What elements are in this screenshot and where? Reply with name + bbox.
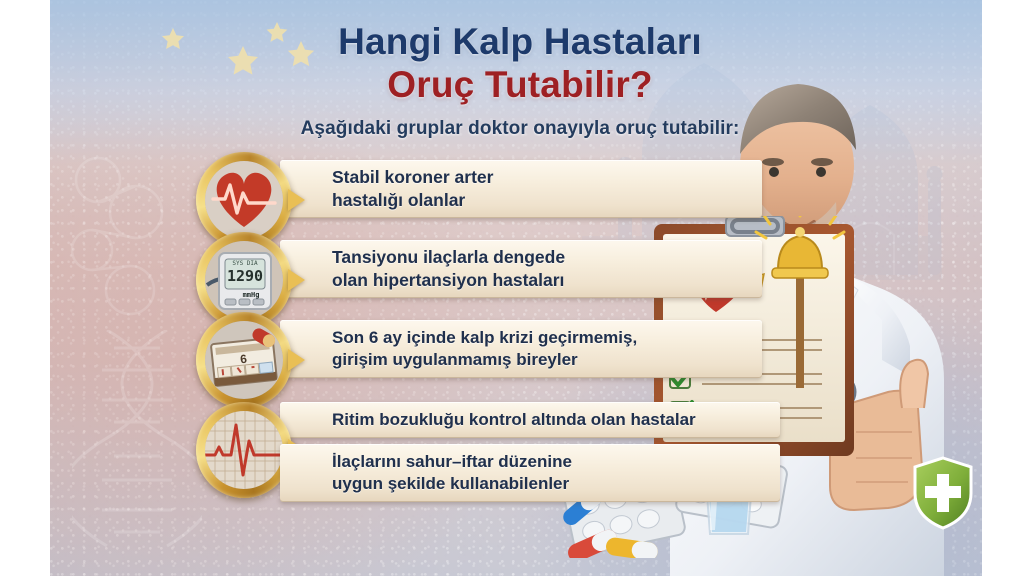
infographic-poster: Hangi Kalp Hastaları Oruç Tutabilir? Aşa… — [0, 0, 1024, 576]
dna-helix-watermark-secondary — [58, 150, 178, 340]
heart-ecg-icon — [205, 161, 283, 239]
item-text-line: girişim uygulanmamış bireyler — [332, 349, 637, 371]
title-line-1: Hangi Kalp Hastaları — [240, 22, 800, 62]
title-block: Hangi Kalp Hastaları Oruç Tutabilir? — [240, 22, 800, 105]
item-banner: Ritim bozukluğu kontrol altında olan has… — [280, 402, 780, 438]
svg-text:SYS DIA: SYS DIA — [232, 260, 258, 267]
item-text-line: olan hipertansiyon hastaları — [332, 269, 565, 292]
arrow-icon — [288, 349, 305, 371]
blood-pressure-monitor-icon: 1290 SYS DIA mmHg — [205, 241, 283, 319]
item-text-line: uygun şekilde kullanabilenler — [332, 473, 572, 495]
bp-reading: 1290 — [227, 267, 263, 285]
item-banner: Stabil koroner arter hastalığı olanlar — [280, 160, 762, 218]
arrow-icon — [288, 189, 305, 211]
item-banner: Son 6 ay içinde kalp krizi geçirmemiş, g… — [280, 320, 762, 378]
item-icon-badge — [196, 402, 292, 498]
item-text-line: Stabil koroner arter — [332, 166, 493, 189]
ecg-rhythm-icon — [205, 411, 283, 489]
calendar-pill-icon: 6 — [205, 321, 283, 399]
item-text-line: Ritim bozukluğu kontrol altında olan has… — [332, 409, 696, 431]
item-text-line: İlaçlarını sahur–iftar düzenine — [332, 451, 572, 473]
bp-unit: mmHg — [243, 291, 260, 299]
item-text-line: hastalığı olanlar — [332, 189, 493, 212]
item-text-line: Son 6 ay içinde kalp krizi geçirmemiş, — [332, 327, 637, 349]
arrow-icon — [288, 269, 305, 291]
subtitle: Aşağıdaki gruplar doktor onayıyla oruç t… — [220, 118, 820, 140]
item-text-line: Tansiyonu ilaçlarla dengede — [332, 246, 565, 269]
item-banner: Tansiyonu ilaçlarla dengede olan hiperta… — [280, 240, 762, 298]
title-line-2: Oruç Tutabilir? — [240, 64, 800, 105]
poster-canvas: Hangi Kalp Hastaları Oruç Tutabilir? Aşa… — [50, 0, 982, 576]
item-icon-badge: 6 — [196, 312, 292, 408]
medical-shield-icon — [912, 456, 974, 530]
item-banner: İlaçlarını sahur–iftar düzenine uygun şe… — [280, 444, 780, 502]
dna-helix-watermark — [72, 330, 202, 560]
